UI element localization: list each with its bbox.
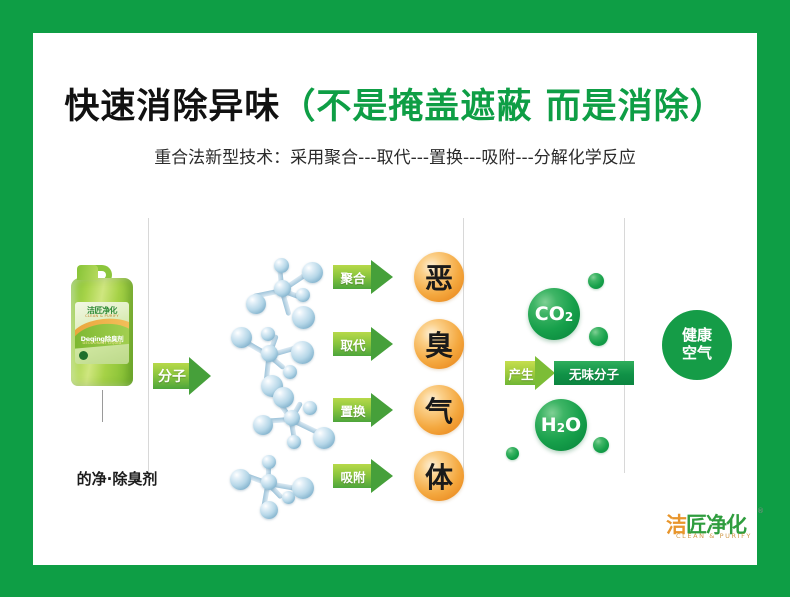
- bottle-label: 洁匠净化 CLEAN & PURIFY Deqing除臭剂 DEODORANT …: [75, 302, 129, 364]
- page-title: 快速消除异味（不是掩盖遮蔽 而是消除）: [63, 78, 727, 129]
- molecule-atom: [274, 280, 291, 297]
- panel-divider-3: [624, 218, 625, 473]
- step-arrow-body: 聚合: [333, 265, 373, 289]
- molecule-atom: [273, 387, 294, 408]
- molecule-arrow: 分子: [153, 363, 211, 389]
- healthy-air-circle: 健康 空气: [662, 310, 732, 380]
- molecule-atom: [302, 262, 323, 283]
- odor-char-circle-4: 体: [414, 451, 464, 501]
- step-arrow-body: 吸附: [333, 464, 373, 488]
- molecule-atom: [231, 327, 252, 348]
- registered-mark: ®: [757, 507, 764, 515]
- molecule-atom: [303, 401, 317, 415]
- produce-arrow-head-icon: [535, 356, 555, 390]
- odorless-molecule-banner: 无味分子: [554, 361, 634, 385]
- molecule-arrow-head-icon: [189, 357, 211, 395]
- healthy-air-line1: 健康: [682, 327, 712, 345]
- bottle-label-tagline: CLEAN & PURIFY: [75, 314, 129, 318]
- molecule-atom: [246, 294, 266, 314]
- h2o-label-tail: O: [565, 414, 581, 436]
- molecule-atom: [260, 501, 278, 519]
- step-arrow-4: 吸附: [333, 464, 395, 488]
- title-black-part: 快速消除异味: [64, 87, 280, 127]
- co2-bubble: CO2: [528, 288, 580, 340]
- healthy-air-line2: 空气: [682, 345, 712, 363]
- green-bubble-small: [588, 273, 604, 289]
- produce-arrow: 产生: [505, 361, 555, 385]
- title-green-part: （不是掩盖遮蔽 而是消除）: [280, 87, 725, 127]
- step-arrow-1: 聚合: [333, 265, 395, 289]
- step-arrow-label: 聚合: [340, 268, 365, 287]
- bottle-label-badge-icon: [79, 351, 88, 360]
- molecule-atom: [291, 341, 314, 364]
- step-arrow-head-icon: [371, 327, 393, 361]
- product-caption: 的净·除臭剂: [63, 468, 171, 489]
- odor-char-circle-3: 气: [414, 385, 464, 435]
- step-arrow-label: 吸附: [340, 467, 365, 486]
- produce-arrow-body: 产生: [505, 361, 537, 385]
- product-bottle-group: 洁匠净化 CLEAN & PURIFY Deqing除臭剂 DEODORANT …: [53, 278, 148, 408]
- bottle-body-icon: 洁匠净化 CLEAN & PURIFY Deqing除臭剂 DEODORANT …: [71, 278, 133, 386]
- molecule-atom: [282, 491, 295, 504]
- poster-canvas: 快速消除异味（不是掩盖遮蔽 而是消除） 重合法新型技术：采用聚合---取代---…: [0, 0, 790, 597]
- callout-leader-line: [102, 390, 103, 422]
- panel-divider-1: [148, 218, 149, 473]
- molecule-atom: [283, 365, 297, 379]
- molecule-cluster-icon: [228, 447, 323, 532]
- brand-logo: 洁匠净化 ® CLEAN & PURIFY: [666, 505, 762, 545]
- h2o-bubble: H2O: [535, 399, 587, 451]
- molecule-atom: [261, 345, 278, 362]
- molecule-atom: [284, 410, 300, 426]
- molecule-arrow-body: 分子: [153, 363, 191, 389]
- molecule-atom: [253, 415, 273, 435]
- step-arrow-2: 取代: [333, 332, 395, 356]
- step-arrow-3: 置换: [333, 398, 395, 422]
- molecule-atom: [274, 258, 289, 273]
- step-arrow-head-icon: [371, 393, 393, 427]
- molecule-atom: [292, 477, 314, 499]
- green-bubble-small: [506, 447, 519, 460]
- produce-arrow-label: 产生: [508, 364, 533, 383]
- step-arrow-head-icon: [371, 459, 393, 493]
- brand-logo-tagline: CLEAN & PURIFY: [676, 532, 752, 540]
- green-bubble-small: [589, 327, 608, 346]
- odor-char-circle-2: 臭: [414, 319, 464, 369]
- h2o-label: H: [541, 414, 557, 436]
- co2-label: CO: [535, 303, 565, 325]
- step-arrow-label: 取代: [340, 335, 365, 354]
- step-arrow-head-icon: [371, 260, 393, 294]
- molecule-atom: [261, 327, 275, 341]
- green-bubble-small: [593, 437, 609, 453]
- molecule-atom: [262, 455, 276, 469]
- h2o-subscript: 2: [557, 421, 565, 435]
- co2-subscript: 2: [565, 310, 573, 324]
- page-subtitle: 重合法新型技术：采用聚合---取代---置换---吸附---分解化学反应: [63, 143, 727, 168]
- molecule-arrow-label: 分子: [158, 366, 186, 386]
- content-card: 快速消除异味（不是掩盖遮蔽 而是消除） 重合法新型技术：采用聚合---取代---…: [33, 33, 757, 565]
- molecule-atom: [230, 469, 251, 490]
- molecule-atom: [296, 288, 310, 302]
- bottle-label-desc: DEODORANT LIQUID: [75, 341, 129, 345]
- step-arrow-body: 取代: [333, 332, 373, 356]
- odor-char-circle-1: 恶: [414, 252, 464, 302]
- molecule-atom: [261, 474, 277, 490]
- molecule-atom: [313, 427, 335, 449]
- step-arrow-label: 置换: [340, 401, 365, 420]
- step-arrow-body: 置换: [333, 398, 373, 422]
